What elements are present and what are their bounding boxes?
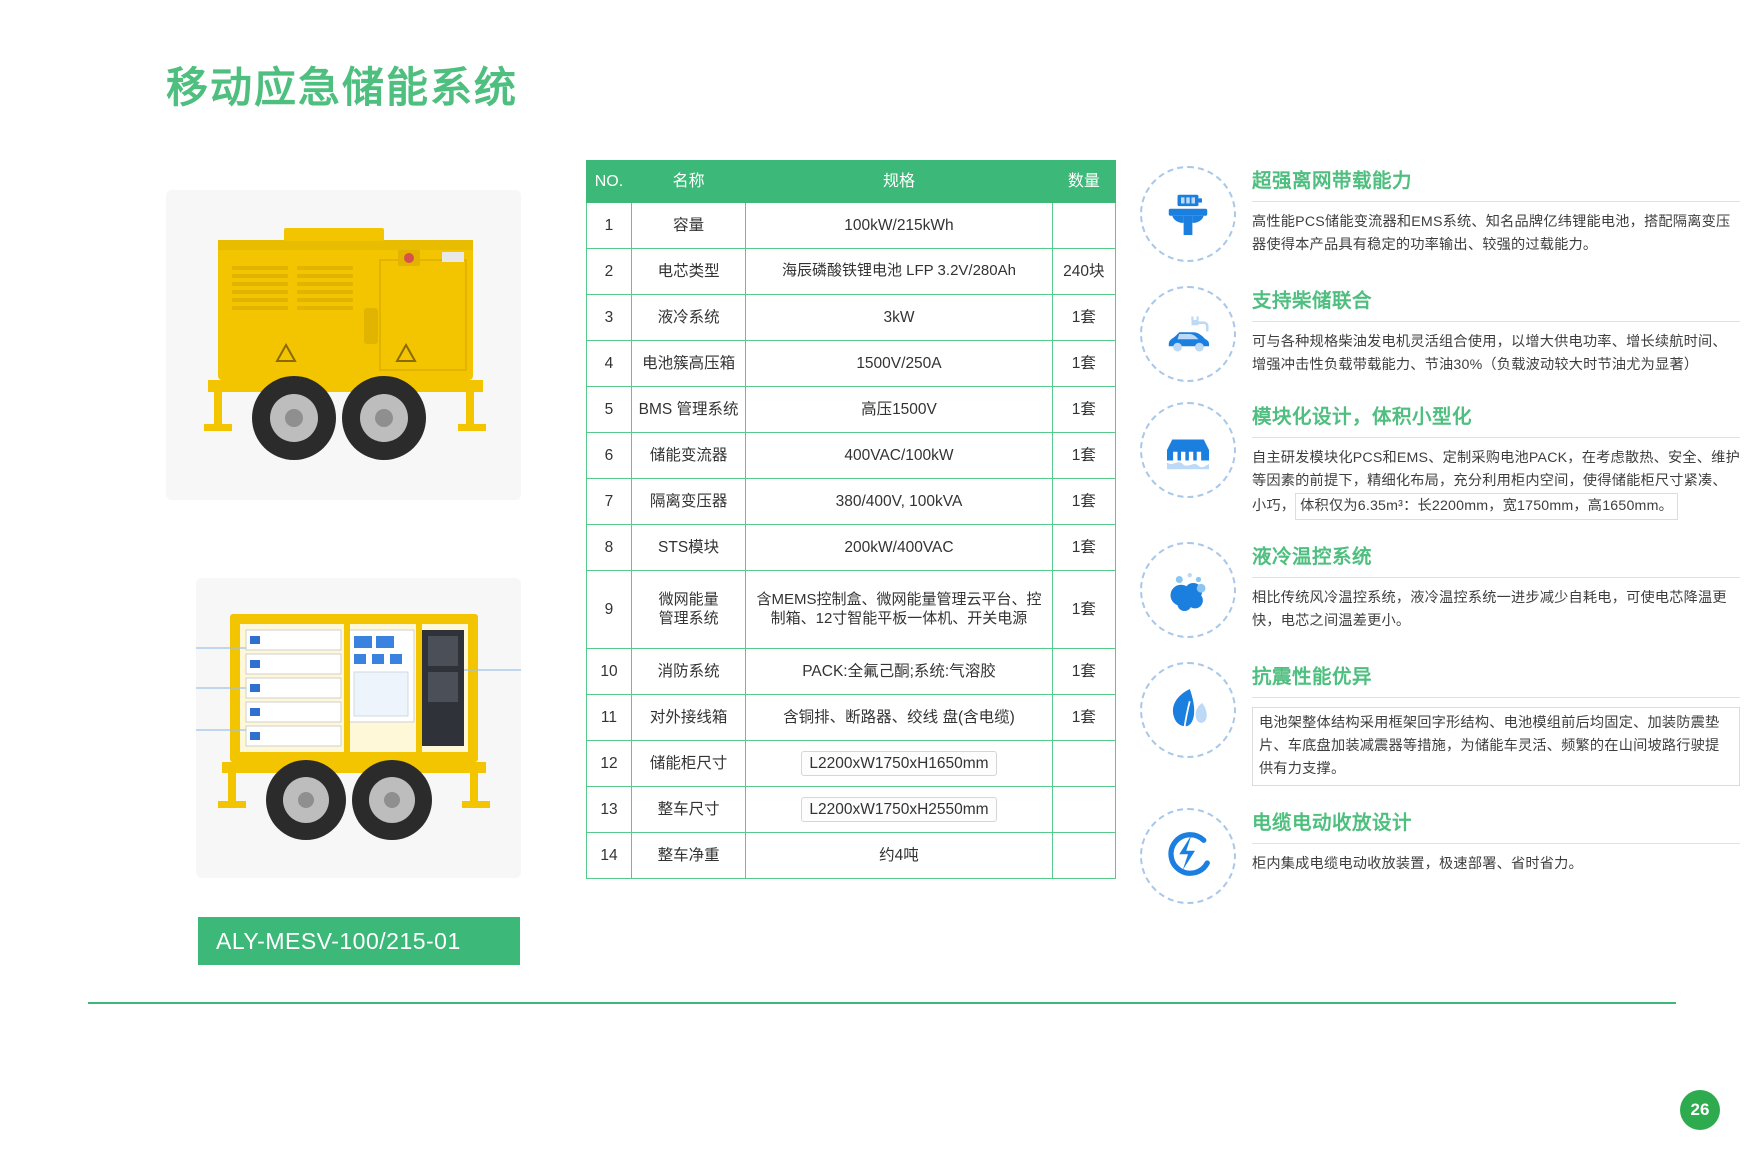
vehicle-dimensions-value: L2200xW1750xH2550mm <box>801 797 996 822</box>
col-header-spec: 规格 <box>746 161 1052 203</box>
cell-spec: 约4吨 <box>746 833 1052 879</box>
trailer-exterior-illustration <box>166 190 521 500</box>
cell-qty: 1套 <box>1052 295 1115 341</box>
table-row: 11对外接线箱含铜排、断路器、绞线 盘(含电缆)1套 <box>587 695 1116 741</box>
cell-no: 4 <box>587 341 632 387</box>
feature-item-cable-reel: 电缆电动收放设计 柜内集成电缆电动收放装置，极速部署、省时省力。 <box>1140 802 1740 904</box>
feature-divider <box>1252 577 1740 578</box>
feature-body: 模块化设计，体积小型化 自主研发模块化PCS和EMS、定制采购电池PACK，在考… <box>1252 396 1740 520</box>
feature-text: 电池架整体结构采用框架回字形结构、电池模组前后均固定、加装防震垫片、车底盘加装减… <box>1252 707 1740 786</box>
specification-table: NO. 名称 规格 数量 1容量100kW/215kWh 2电芯类型海辰磷酸铁锂… <box>586 160 1116 879</box>
feature-title: 超强离网带载能力 <box>1252 164 1740 193</box>
trailer-interior-illustration <box>196 578 521 878</box>
feature-title: 抗震性能优异 <box>1252 660 1740 689</box>
feature-body: 抗震性能优异 电池架整体结构采用框架回字形结构、电池模组前后均固定、加装防震垫片… <box>1252 656 1740 786</box>
slide-root: 移动应急储能系统 <box>0 0 1764 1172</box>
feature-item-offgrid: 超强离网带载能力 高性能PCS储能变流器和EMS系统、知名品牌亿纬锂能电池，搭配… <box>1140 160 1740 262</box>
liquid-cooling-icon <box>1140 542 1236 638</box>
feature-item-liquid-cooling: 液冷温控系统 相比传统风冷温控系统，液冷温控系统一进步减少自耗电，可使电芯降温更… <box>1140 536 1740 638</box>
table-row: 12储能柜尺寸L2200xW1750xH1650mm <box>587 741 1116 787</box>
cell-no: 10 <box>587 649 632 695</box>
cell-name: 消防系统 <box>631 649 745 695</box>
cell-spec: 380/400V, 100kVA <box>746 479 1052 525</box>
cell-spec: PACK:全氟己酮;系统:气溶胶 <box>746 649 1052 695</box>
feature-text: 相比传统风冷温控系统，液冷温控系统一进步减少自耗电，可使电芯降温更快，电芯之间温… <box>1252 587 1740 633</box>
cell-spec: 3kW <box>746 295 1052 341</box>
cell-qty: 1套 <box>1052 525 1115 571</box>
page-number-badge: 26 <box>1680 1090 1720 1130</box>
cell-spec: 400VAC/100kW <box>746 433 1052 479</box>
feature-body: 电缆电动收放设计 柜内集成电缆电动收放装置，极速部署、省时省力。 <box>1252 802 1740 876</box>
modular-cabinet-icon <box>1140 402 1236 498</box>
feature-text: 可与各种规格柴油发电机灵活组合使用，以增大供电功率、增长续航时间、增强冲击性负载… <box>1252 331 1740 377</box>
feature-item-diesel-hybrid: 支持柴储联合 可与各种规格柴油发电机灵活组合使用，以增大供电功率、增长续航时间、… <box>1140 280 1740 382</box>
feature-title: 液冷温控系统 <box>1252 540 1740 569</box>
feature-title: 支持柴储联合 <box>1252 284 1740 313</box>
battery-grid-icon <box>1140 166 1236 262</box>
cell-name: BMS 管理系统 <box>631 387 745 433</box>
volume-dimensions-callout: 体积仅为6.35m³：长2200mm，宽1750mm，高1650mm。 <box>1295 493 1678 520</box>
cell-no: 1 <box>587 203 632 249</box>
page-title: 移动应急储能系统 <box>166 54 518 115</box>
cell-qty: 240块 <box>1052 249 1115 295</box>
cell-qty: 1套 <box>1052 341 1115 387</box>
cell-name: 整车尺寸 <box>631 787 745 833</box>
cell-no: 12 <box>587 741 632 787</box>
ev-charging-car-icon <box>1140 286 1236 382</box>
cell-no: 3 <box>587 295 632 341</box>
feature-divider <box>1252 437 1740 438</box>
feature-divider <box>1252 843 1740 844</box>
cell-qty <box>1052 787 1115 833</box>
col-header-qty: 数量 <box>1052 161 1115 203</box>
cell-name: 电池簇高压箱 <box>631 341 745 387</box>
cell-spec: 含铜排、断路器、绞线 盘(含电缆) <box>746 695 1052 741</box>
cell-spec: 高压1500V <box>746 387 1052 433</box>
table-row: 2电芯类型海辰磷酸铁锂电池 LFP 3.2V/280Ah240块 <box>587 249 1116 295</box>
feature-text: 柜内集成电缆电动收放装置，极速部署、省时省力。 <box>1252 853 1740 876</box>
table-row: 6储能变流器400VAC/100kW1套 <box>587 433 1116 479</box>
cell-qty: 1套 <box>1052 387 1115 433</box>
table-header-row: NO. 名称 规格 数量 <box>587 161 1116 203</box>
cell-no: 14 <box>587 833 632 879</box>
leaf-shock-icon <box>1140 662 1236 758</box>
cell-qty: 1套 <box>1052 649 1115 695</box>
table-row: 4电池簇高压箱1500V/250A1套 <box>587 341 1116 387</box>
feature-divider <box>1252 321 1740 322</box>
cell-spec: L2200xW1750xH2550mm <box>746 787 1052 833</box>
cell-name: STS模块 <box>631 525 745 571</box>
table-row: 13整车尺寸L2200xW1750xH2550mm <box>587 787 1116 833</box>
cell-name: 对外接线箱 <box>631 695 745 741</box>
cell-no: 9 <box>587 571 632 649</box>
cell-no: 13 <box>587 787 632 833</box>
cell-no: 11 <box>587 695 632 741</box>
feature-item-modular: 模块化设计，体积小型化 自主研发模块化PCS和EMS、定制采购电池PACK，在考… <box>1140 396 1740 520</box>
cell-name: 储能柜尺寸 <box>631 741 745 787</box>
cell-no: 8 <box>587 525 632 571</box>
feature-text: 高性能PCS储能变流器和EMS系统、知名品牌亿纬锂能电池，搭配隔离变压器使得本产… <box>1252 211 1740 257</box>
table-row: 7隔离变压器380/400V, 100kVA1套 <box>587 479 1116 525</box>
cell-name: 隔离变压器 <box>631 479 745 525</box>
col-header-name: 名称 <box>631 161 745 203</box>
cell-qty: 1套 <box>1052 433 1115 479</box>
feature-body: 液冷温控系统 相比传统风冷温控系统，液冷温控系统一进步减少自耗电，可使电芯降温更… <box>1252 536 1740 633</box>
cell-qty <box>1052 833 1115 879</box>
feature-title: 模块化设计，体积小型化 <box>1252 400 1740 429</box>
cell-no: 5 <box>587 387 632 433</box>
feature-title: 电缆电动收放设计 <box>1252 806 1740 835</box>
cell-no: 2 <box>587 249 632 295</box>
product-photo-exterior <box>166 190 521 500</box>
cell-name: 容量 <box>631 203 745 249</box>
cell-qty: 1套 <box>1052 571 1115 649</box>
cell-qty: 1套 <box>1052 479 1115 525</box>
table-row: 8STS模块200kW/400VAC1套 <box>587 525 1116 571</box>
footer-divider <box>88 1002 1676 1004</box>
feature-body: 支持柴储联合 可与各种规格柴油发电机灵活组合使用，以增大供电功率、增长续航时间、… <box>1252 280 1740 377</box>
cell-spec: 海辰磷酸铁锂电池 LFP 3.2V/280Ah <box>746 249 1052 295</box>
cell-spec: 100kW/215kWh <box>746 203 1052 249</box>
cell-qty <box>1052 203 1115 249</box>
feature-divider <box>1252 697 1740 698</box>
cell-qty <box>1052 741 1115 787</box>
cell-name: 整车净重 <box>631 833 745 879</box>
product-photo-interior <box>196 578 521 878</box>
table-body: 1容量100kW/215kWh 2电芯类型海辰磷酸铁锂电池 LFP 3.2V/2… <box>587 203 1116 879</box>
table-row: 5BMS 管理系统高压1500V1套 <box>587 387 1116 433</box>
model-code-text: ALY-MESV-100/215-01 <box>216 928 461 955</box>
model-code-badge: ALY-MESV-100/215-01 <box>198 917 520 965</box>
table-row: 3液冷系统3kW1套 <box>587 295 1116 341</box>
cell-qty: 1套 <box>1052 695 1115 741</box>
cell-name: 液冷系统 <box>631 295 745 341</box>
cell-spec: 1500V/250A <box>746 341 1052 387</box>
cell-no: 6 <box>587 433 632 479</box>
feature-body: 超强离网带载能力 高性能PCS储能变流器和EMS系统、知名品牌亿纬锂能电池，搭配… <box>1252 160 1740 257</box>
cell-spec: 含MEMS控制盒、微网能量管理云平台、控制箱、12寸智能平板一体机、开关电源 <box>746 571 1052 649</box>
cell-name: 储能变流器 <box>631 433 745 479</box>
cell-spec: 200kW/400VAC <box>746 525 1052 571</box>
lightning-bolt-icon <box>1140 808 1236 904</box>
feature-item-shock-resistance: 抗震性能优异 电池架整体结构采用框架回字形结构、电池模组前后均固定、加装防震垫片… <box>1140 656 1740 786</box>
table-row: 1容量100kW/215kWh <box>587 203 1116 249</box>
feature-divider <box>1252 201 1740 202</box>
cell-spec: L2200xW1750xH1650mm <box>746 741 1052 787</box>
cell-name: 微网能量 管理系统 <box>631 571 745 649</box>
table-row: 10消防系统PACK:全氟己酮;系统:气溶胶1套 <box>587 649 1116 695</box>
cell-name: 电芯类型 <box>631 249 745 295</box>
feature-list: 超强离网带载能力 高性能PCS储能变流器和EMS系统、知名品牌亿纬锂能电池，搭配… <box>1140 160 1740 914</box>
cabinet-dimensions-value: L2200xW1750xH1650mm <box>801 751 996 776</box>
col-header-no: NO. <box>587 161 632 203</box>
feature-text: 自主研发模块化PCS和EMS、定制采购电池PACK，在考虑散热、安全、维护等因素… <box>1252 447 1740 520</box>
page-number-text: 26 <box>1691 1100 1710 1120</box>
cell-no: 7 <box>587 479 632 525</box>
table-row: 14整车净重约4吨 <box>587 833 1116 879</box>
table-row: 9微网能量 管理系统含MEMS控制盒、微网能量管理云平台、控制箱、12寸智能平板… <box>587 571 1116 649</box>
